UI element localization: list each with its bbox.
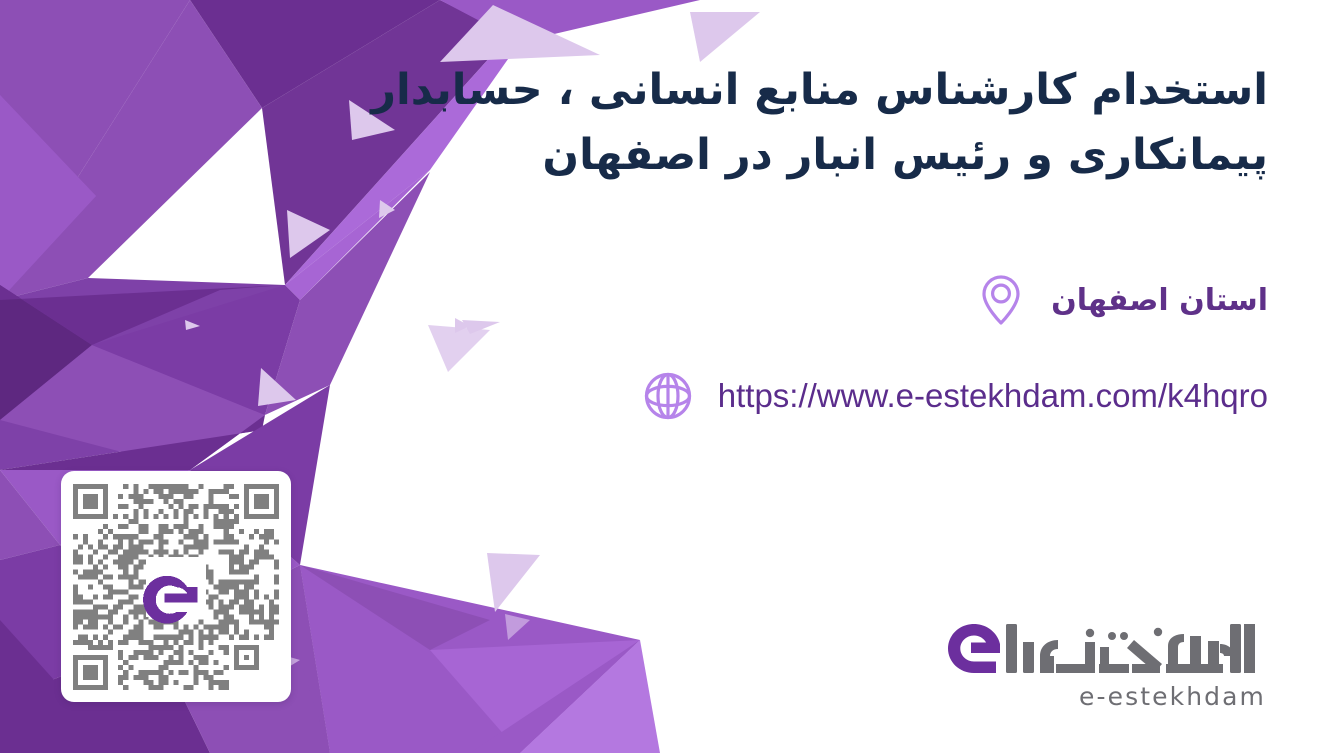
e-letter-mark bbox=[948, 624, 1000, 673]
map-pin-icon bbox=[973, 272, 1029, 328]
brand-wordmark-en: e-estekhdam bbox=[944, 682, 1266, 711]
qr-center-logo bbox=[143, 557, 206, 624]
job-poster-card: استخدام کارشناس منابع انسانی ، حسابدار پ… bbox=[0, 0, 1340, 753]
wordmark-fa bbox=[1006, 624, 1255, 673]
page-title: استخدام کارشناس منابع انسانی ، حسابدار پ… bbox=[368, 58, 1268, 189]
website-row: https://www.e-estekhdam.com/k4hqro bbox=[640, 368, 1268, 424]
page-title-line-2: پیمانکاری و رئیس انبار در اصفهان bbox=[368, 123, 1268, 188]
location-label: استان اصفهان bbox=[1051, 283, 1268, 318]
qr-code-icon bbox=[73, 484, 279, 690]
location-row: استان اصفهان bbox=[973, 272, 1268, 328]
brand-wordmark bbox=[944, 616, 1266, 678]
globe-icon bbox=[640, 368, 696, 424]
page-title-line-1: استخدام کارشناس منابع انسانی ، حسابدار bbox=[368, 58, 1268, 123]
brand-logo: e-estekhdam bbox=[944, 616, 1266, 716]
website-link[interactable]: https://www.e-estekhdam.com/k4hqro bbox=[718, 377, 1268, 415]
qr-code[interactable] bbox=[61, 471, 291, 702]
